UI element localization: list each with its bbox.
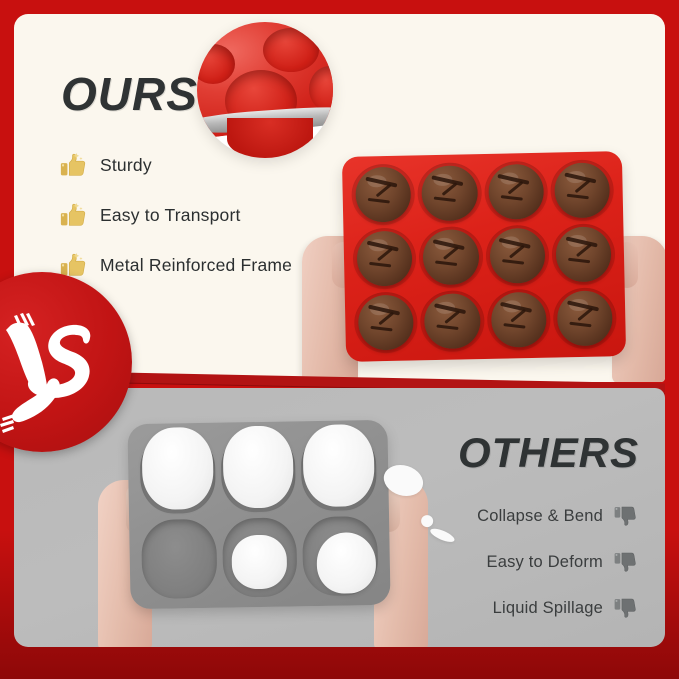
- ours-feature-item: Easy to Transport: [59, 196, 359, 234]
- thumbs-up-icon: [59, 200, 89, 230]
- thumbs-up-icon: [59, 150, 89, 180]
- muffin-well: [420, 290, 485, 352]
- others-heading: OTHERS: [458, 432, 639, 474]
- muffin-well: [354, 291, 419, 353]
- ours-feature-label: Easy to Transport: [100, 205, 241, 226]
- others-feature-label: Liquid Spillage: [493, 599, 603, 618]
- tray-cavity: [222, 517, 298, 598]
- muffin-well: [351, 163, 416, 225]
- tray-cavity: [220, 431, 296, 512]
- muffin-well: [550, 159, 615, 221]
- muffin-well: [352, 227, 417, 289]
- thumbs-down-icon: [613, 595, 639, 621]
- muffin-well: [419, 226, 484, 288]
- others-feature-item: Easy to Deform: [319, 546, 639, 578]
- red-muffin-tray: [342, 151, 626, 362]
- muffin-well: [551, 223, 616, 285]
- tray-cavity: [301, 430, 377, 511]
- ours-heading: OURS: [61, 71, 198, 117]
- comparison-infographic: OURS Sturdy: [0, 0, 679, 679]
- others-feature-list: Collapse & Bend Easy to Deform Liqui: [319, 500, 639, 638]
- muffin-well: [417, 162, 482, 224]
- ours-feature-label: Sturdy: [100, 155, 152, 176]
- muffin-well: [484, 161, 549, 223]
- others-feature-item: Liquid Spillage: [319, 592, 639, 624]
- vs-brush-lettering: [0, 272, 132, 452]
- others-feature-label: Easy to Deform: [486, 553, 603, 572]
- others-feature-label: Collapse & Bend: [477, 507, 603, 526]
- tray-cavity: [140, 433, 216, 514]
- others-feature-item: Collapse & Bend: [319, 500, 639, 532]
- muffin-well: [485, 225, 550, 287]
- metal-reinforced-frame-closeup: [197, 22, 333, 158]
- muffin-well: [486, 289, 551, 351]
- tray-cavity: [141, 518, 217, 599]
- muffin-well: [552, 287, 617, 349]
- thumbs-down-icon: [613, 503, 639, 529]
- ours-feature-item: Sturdy: [59, 146, 359, 184]
- vs-badge: [0, 272, 132, 452]
- thumbs-down-icon: [613, 549, 639, 575]
